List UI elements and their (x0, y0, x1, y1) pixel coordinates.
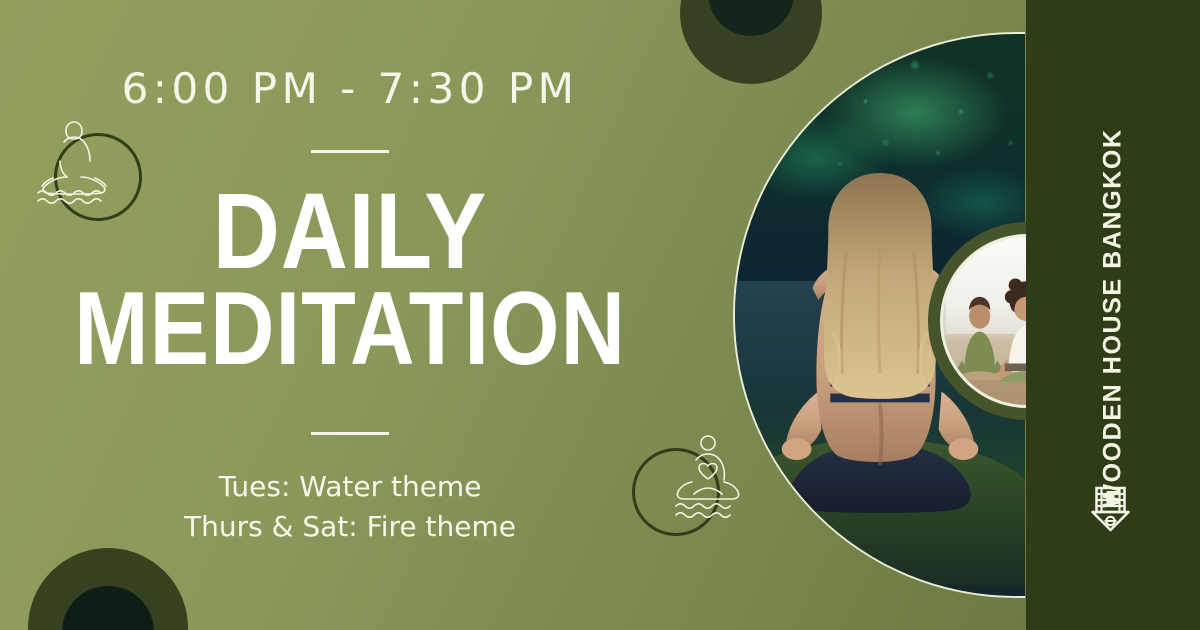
text-column: 6:00 PM - 7:30 PM DAILY MEDITATION Tues:… (0, 0, 700, 630)
brand-sidebar: WOODEN HOUSE BANGKOK (1026, 0, 1200, 630)
title-line-1: DAILY (49, 181, 651, 281)
page-title: DAILY MEDITATION (0, 181, 700, 378)
wooden-house-logo-icon (1088, 482, 1139, 534)
divider-top (311, 150, 389, 153)
divider-bottom (311, 432, 389, 435)
brand-name: WOODEN HOUSE BANGKOK (1099, 128, 1128, 507)
title-line-2: MEDITATION (49, 281, 651, 378)
poster-canvas: 6:00 PM - 7:30 PM DAILY MEDITATION Tues:… (0, 0, 1200, 630)
theme-item-thurs-sat: Thurs & Sat: Fire theme (184, 507, 516, 547)
session-time: 6:00 PM - 7:30 PM (122, 68, 579, 110)
theme-schedule: Tues: Water theme Thurs & Sat: Fire them… (184, 467, 516, 547)
theme-item-tues: Tues: Water theme (184, 467, 516, 507)
